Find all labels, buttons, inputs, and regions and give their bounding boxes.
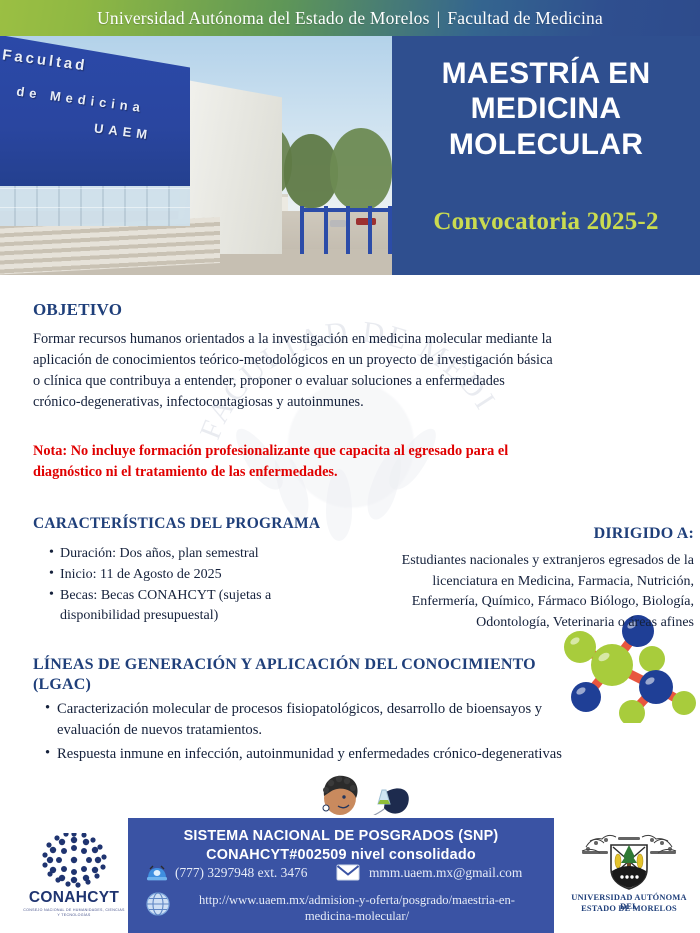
caracteristicas-list: Duración: Dos años, plan semestral Inici… (33, 544, 323, 627)
conahcyt-wordmark: CONAHCYT (22, 889, 126, 907)
lgac-heading-line1: LÍNEAS DE GENERACIÓN Y APLICACIÓN DEL CO… (33, 655, 568, 675)
page-title: MAESTRÍA EN MEDICINA MOLECULAR (392, 56, 700, 162)
list-item: Duración: Dos años, plan semestral (49, 544, 323, 564)
snp-line-2: CONAHCYT#002509 nivel consolidado (128, 846, 554, 865)
photo-sign-line1: Facultad (1, 46, 88, 74)
objetivo-paragraph: Formar recursos humanos orientados a la … (33, 329, 553, 412)
header-separator: | (430, 8, 448, 29)
poster-root: Universidad Autónoma del Estado de Morel… (0, 0, 700, 933)
tree-icon (330, 128, 392, 210)
conahcyt-mark-icon (22, 833, 126, 889)
uaem-logo: UNIVERSIDAD AUTÓNOMA DEL ESTADO DE MOREL… (566, 831, 692, 927)
conahcyt-logo: CONAHCYT CONSEJO NACIONAL DE HUMANIDADES… (22, 833, 126, 925)
header-university: Universidad Autónoma del Estado de Morel… (97, 8, 430, 29)
telephone-icon (146, 864, 168, 881)
photo-sign-line2: de Medicina (16, 84, 146, 116)
title-panel: MAESTRÍA EN MEDICINA MOLECULAR Convocato… (392, 36, 700, 275)
footer-info-panel: SISTEMA NACIONAL DE POSGRADOS (SNP) CONA… (128, 818, 554, 933)
lgac-heading-line2: (LGAC) (33, 675, 568, 695)
envelope-icon (336, 864, 360, 881)
dirigido-heading: DIRIGIDO A: (380, 525, 694, 543)
footer-contact-row: (777) 3297948 ext. 3476 mmm.uaem.mx@gmai… (128, 864, 554, 888)
body-content: FACULTAD DE MEDICINA OBJETIVO Formar rec… (0, 275, 700, 815)
caracteristicas-heading: CARACTERÍSTICAS DEL PROGRAMA (33, 515, 323, 533)
section-objetivo: OBJETIVO Formar recursos humanos orienta… (33, 300, 553, 412)
header-faculty: Facultad de Medicina (447, 8, 603, 29)
list-item: Caracterización molecular de procesos fi… (45, 699, 568, 742)
section-dirigido-a: DIRIGIDO A: Estudiantes nacionales y ext… (380, 525, 694, 633)
convocatoria-subtitle: Convocatoria 2025-2 (392, 208, 700, 236)
lgac-heading: LÍNEAS DE GENERACIÓN Y APLICACIÓN DEL CO… (33, 655, 568, 695)
dirigido-paragraph: Estudiantes nacionales y extranjeros egr… (380, 551, 694, 633)
title-line-1: MAESTRÍA EN (392, 56, 700, 91)
faculty-building-photo: Facultad de Medicina UAEM (0, 36, 393, 275)
list-item: Respuesta inmune en infección, autoinmun… (45, 744, 568, 765)
top-header-bar: Universidad Autónoma del Estado de Morel… (0, 0, 700, 36)
website-contact[interactable]: http://www.uaem.mx/admision-y-oferta/pos… (146, 892, 546, 925)
hero-section: Facultad de Medicina UAEM MAESTRÍA EN ME… (0, 36, 700, 275)
footer-section: CONAHCYT CONSEJO NACIONAL DE HUMANIDADES… (0, 815, 700, 933)
title-line-2: MEDICINA (392, 91, 700, 126)
conahcyt-subtitle: CONSEJO NACIONAL DE HUMANIDADES, CIENCIA… (22, 908, 126, 919)
section-caracteristicas: CARACTERÍSTICAS DEL PROGRAMA Duración: D… (33, 515, 323, 628)
section-lgac: LÍNEAS DE GENERACIÓN Y APLICACIÓN DEL CO… (33, 655, 568, 769)
snp-heading: SISTEMA NACIONAL DE POSGRADOS (SNP) CONA… (128, 827, 554, 865)
phone-number: (777) 3297948 ext. 3476 (175, 865, 307, 881)
lgac-list: Caracterización molecular de procesos fi… (33, 699, 568, 766)
snp-line-1: SISTEMA NACIONAL DE POSGRADOS (SNP) (128, 827, 554, 846)
blue-railing (300, 206, 392, 254)
list-item: Inicio: 11 de Agosto de 2025 (49, 565, 323, 585)
globe-icon (146, 892, 170, 916)
objetivo-nota: Nota: No incluye formación profesionaliz… (33, 441, 553, 482)
list-item: Becas: Becas CONAHCYT (sujetas a disponi… (49, 586, 323, 626)
title-line-3: MOLECULAR (392, 127, 700, 162)
uaem-coat-of-arms-icon (566, 831, 692, 893)
email-address: mmm.uaem.mx@gmail.com (369, 865, 522, 881)
website-url: http://www.uaem.mx/admision-y-oferta/pos… (181, 892, 533, 925)
email-contact[interactable]: mmm.uaem.mx@gmail.com (336, 864, 522, 881)
uaem-name-line2: ESTADO DE MORELOS (566, 904, 692, 913)
photo-sign-line3: UAEM (93, 121, 153, 143)
phone-contact[interactable]: (777) 3297948 ext. 3476 (146, 864, 307, 881)
objetivo-heading: OBJETIVO (33, 300, 553, 320)
header-text: Universidad Autónoma del Estado de Morel… (0, 0, 700, 36)
